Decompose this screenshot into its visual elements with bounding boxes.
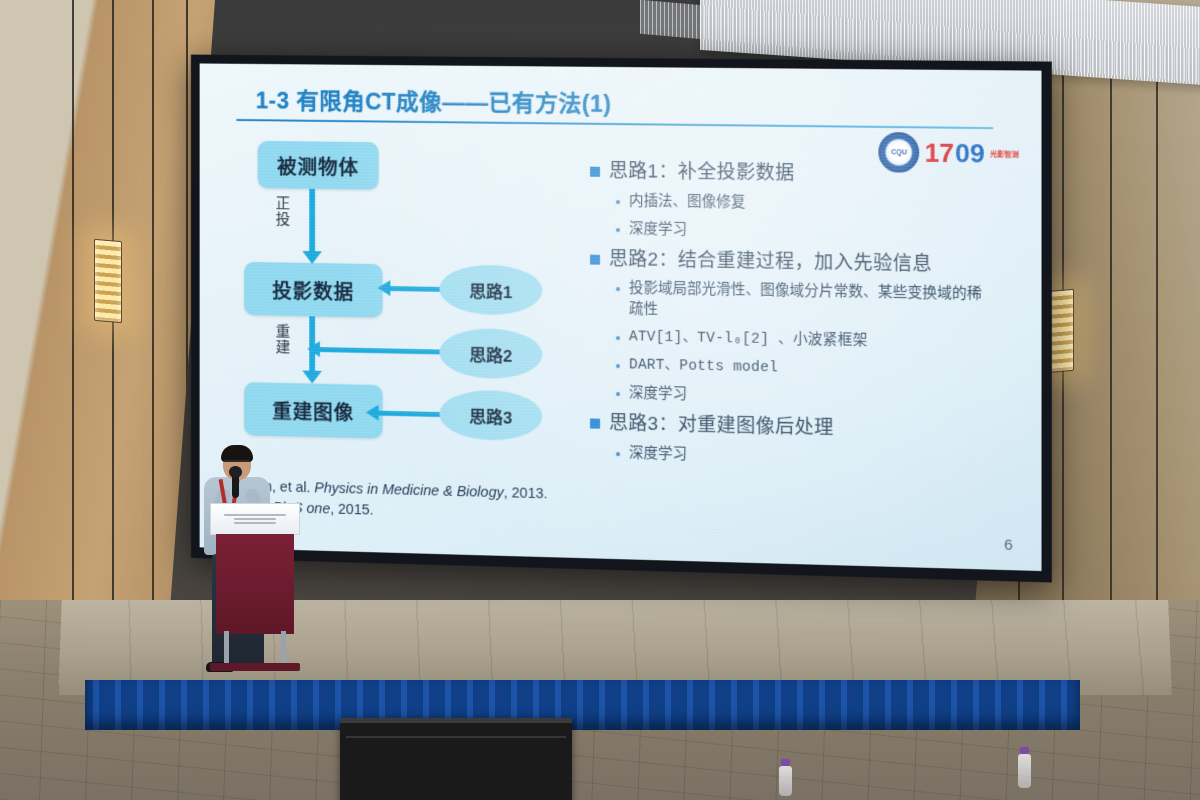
- podium-base: [210, 663, 300, 671]
- flowchart: 被测物体 投影数据 重建图像 正投 重建 思路1 思路2 思路3: [233, 141, 557, 474]
- flow-box-object: 被测物体: [258, 141, 379, 190]
- bullet-level1: 思路2：结合重建过程，加入先验信息: [590, 246, 985, 278]
- podium: [210, 503, 300, 671]
- stage-skirt: [85, 680, 1080, 730]
- bullet-level2: 深度学习: [616, 443, 985, 473]
- bullet-level2: 内插法、图像修复: [616, 191, 985, 217]
- projection-screen: 1-3 有限角CT成像——已有方法(1) CQU 17 09 光影智测 被测物体…: [200, 63, 1042, 571]
- slide-page-number: 6: [1004, 536, 1013, 554]
- flow-ellipse-idea-2: 思路2: [439, 328, 542, 380]
- bullet-level1: 思路1：补全投影数据: [590, 159, 985, 190]
- podium-sign-line: [234, 522, 276, 524]
- square-bullet-icon: [590, 419, 600, 429]
- bullet-level2-label: 深度学习: [629, 443, 687, 465]
- bullet-level2-label: 深度学习: [629, 384, 687, 406]
- bullet-level1-label: 思路3：对重建图像后处理: [609, 411, 834, 442]
- bullet-level2: DART、Potts model: [616, 355, 985, 384]
- screenshot-root: 1-3 有限角CT成像——已有方法(1) CQU 17 09 光影智测 被测物体…: [0, 0, 1200, 800]
- bullet-level1-label: 思路2：结合重建过程，加入先验信息: [609, 247, 932, 278]
- dot-bullet-icon: [616, 200, 620, 204]
- reference-journal: Physics in Medicine & Biology: [314, 480, 503, 501]
- projection-screen-frame: 1-3 有限角CT成像——已有方法(1) CQU 17 09 光影智测 被测物体…: [191, 55, 1052, 583]
- flow-label-forward-projection: 正投: [271, 196, 294, 227]
- square-bullet-icon: [590, 167, 600, 177]
- square-bullet-icon: [590, 254, 600, 264]
- arrow-idea-1: [390, 286, 441, 292]
- slide-title: 1-3 有限角CT成像——已有方法(1): [256, 82, 1019, 124]
- bullet-level2-label: 投影域局部光滑性、图像域分片常数、某些变换域的稀疏性: [629, 279, 985, 328]
- conference-logo-tagline: 光影智测: [990, 149, 1019, 159]
- flow-box-projection: 投影数据: [244, 262, 382, 318]
- wall-sconce-left: [94, 239, 122, 323]
- water-bottle-1: [779, 766, 792, 796]
- bullet-level2: 深度学习: [616, 383, 985, 412]
- podium-sign-line: [234, 518, 276, 520]
- flow-ellipse-idea-3: 思路3: [439, 389, 542, 441]
- bullet-list: 思路1：补全投影数据 内插法、图像修复 深度学习 思路2：结合重建过程，加入先验…: [590, 159, 985, 480]
- podium-body: [216, 534, 294, 634]
- reference-year: , 2015.: [330, 502, 373, 519]
- dot-bullet-icon: [616, 228, 620, 232]
- slide: 1-3 有限角CT成像——已有方法(1) CQU 17 09 光影智测 被测物体…: [200, 63, 1042, 571]
- microphone-icon: [232, 472, 239, 498]
- bullet-level2-label: 深度学习: [629, 219, 687, 241]
- arrow-forward-projection: [309, 189, 315, 252]
- arrow-idea-3: [379, 411, 442, 417]
- dot-bullet-icon: [616, 364, 620, 368]
- bullet-level2-label: DART、Potts model: [629, 356, 778, 380]
- bullet-level2: 深度学习: [616, 219, 985, 246]
- bullet-level2-label: ATV[1]、TV-l₀[2] 、小波紧框架: [629, 328, 868, 354]
- podium-sign-line: [224, 514, 286, 516]
- bullet-level1-label: 思路1：补全投影数据: [609, 159, 795, 187]
- dot-bullet-icon: [616, 287, 620, 291]
- flow-box-reconstruct: 重建图像: [244, 382, 382, 438]
- bullet-level2-label: 内插法、图像修复: [629, 191, 745, 214]
- confidence-monitor: [340, 718, 572, 800]
- podium-sign: [210, 503, 300, 535]
- bullet-level1: 思路3：对重建图像后处理: [590, 411, 985, 446]
- arrow-idea-2: [320, 347, 442, 354]
- bullet-level2: 投影域局部光滑性、图像域分片常数、某些变换域的稀疏性: [616, 278, 985, 327]
- bullet-level2: ATV[1]、TV-l₀[2] 、小波紧框架: [616, 327, 985, 355]
- dot-bullet-icon: [616, 392, 620, 396]
- dot-bullet-icon: [616, 452, 620, 456]
- flow-ellipse-idea-1: 思路1: [439, 264, 542, 316]
- reference-year: , 2013.: [504, 485, 548, 502]
- reference-list: [1] Chen, et al. Physics in Medicine & B…: [219, 476, 915, 538]
- flow-label-reconstruction: 重建: [271, 324, 294, 356]
- water-bottle-2: [1018, 754, 1031, 788]
- dot-bullet-icon: [616, 336, 620, 340]
